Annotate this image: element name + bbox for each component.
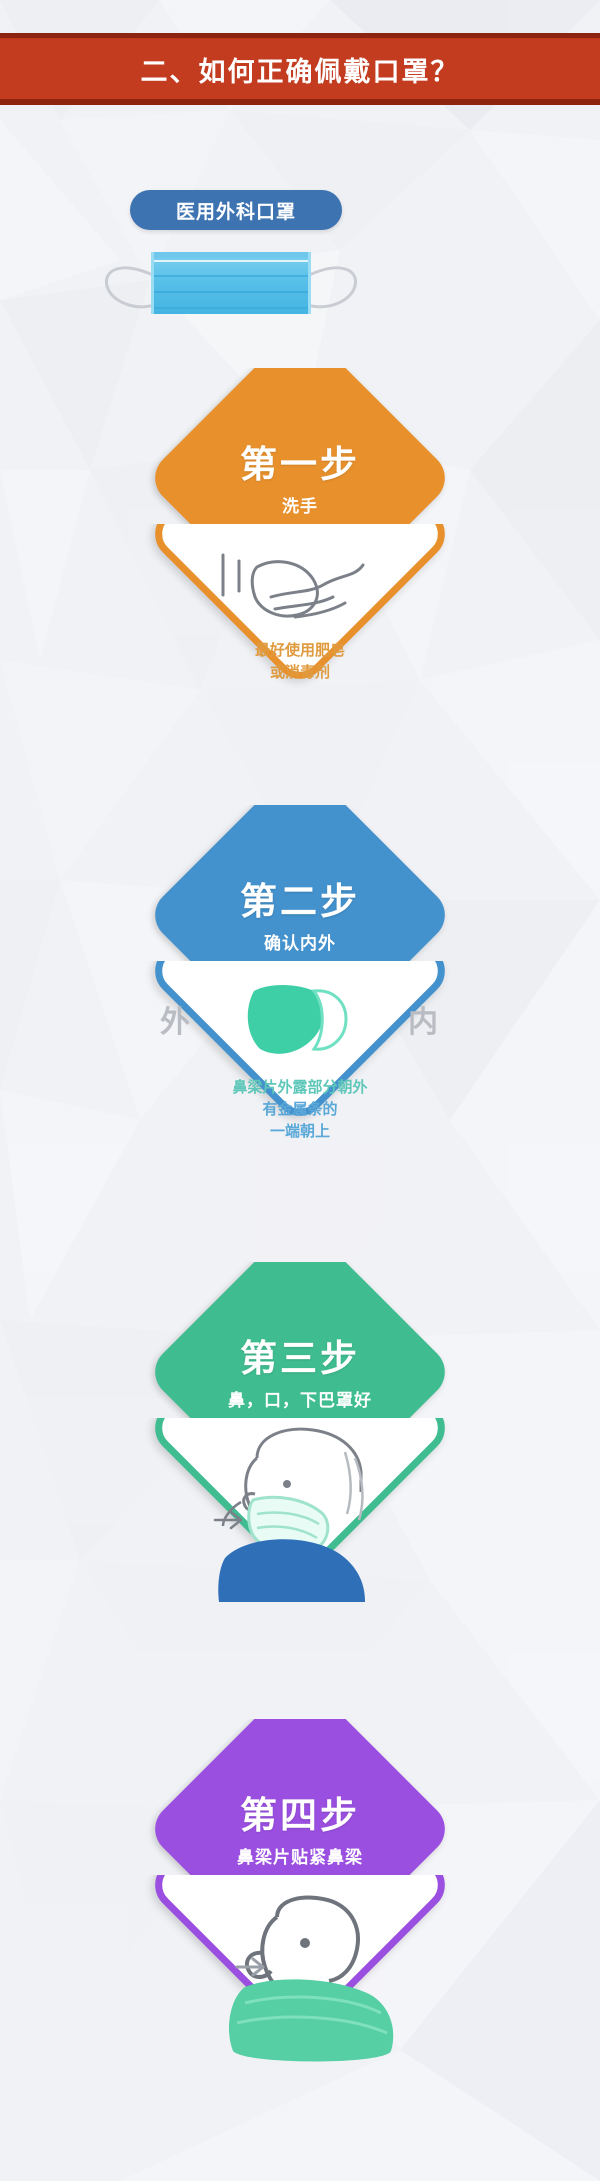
step-3-top-shape	[144, 1262, 455, 1422]
step-1-top-shape	[144, 368, 455, 528]
step-3-top-shape-clip	[140, 1262, 460, 1422]
step-1-top-shape-clip	[140, 368, 460, 528]
section-header-banner: 二、如何正确佩戴口罩？	[0, 33, 600, 105]
step-2: 外 内 第二步 确认内外 鼻梁片外露部分朝外 有金属条的 一端朝上	[0, 805, 600, 1245]
step-2-label-outside: 外	[160, 997, 190, 1041]
pinch-nose-clip-icon	[185, 1891, 420, 2066]
banner-bottom-edge	[0, 99, 600, 105]
banner-top-edge	[0, 33, 600, 38]
step-1: 第一步 洗手 最好使用肥皂 或消毒剂	[0, 368, 600, 808]
page-title: 二、如何正确佩戴口罩？	[141, 50, 460, 89]
banner-inner: 二、如何正确佩戴口罩？	[0, 39, 600, 99]
surgical-mask-image	[85, 240, 375, 330]
step-4-top-shape-clip	[140, 1719, 460, 1879]
mask-orientation-icon	[240, 983, 360, 1061]
product-type-label: 医用外科口罩	[176, 197, 296, 224]
step-2-label-inside: 内	[408, 997, 438, 1041]
product-type-badge: 医用外科口罩	[130, 190, 342, 230]
step-2-top-shape	[144, 805, 455, 965]
step-4: 第四步 鼻梁片贴紧鼻梁	[0, 1719, 600, 2159]
face-wearing-mask-icon	[195, 1422, 410, 1607]
step-2-top-shape-clip	[140, 805, 460, 965]
washing-hands-icon	[205, 553, 395, 658]
step-3: 第三步 鼻，口，下巴罩好	[0, 1262, 600, 1702]
step-4-top-shape	[144, 1719, 455, 1879]
